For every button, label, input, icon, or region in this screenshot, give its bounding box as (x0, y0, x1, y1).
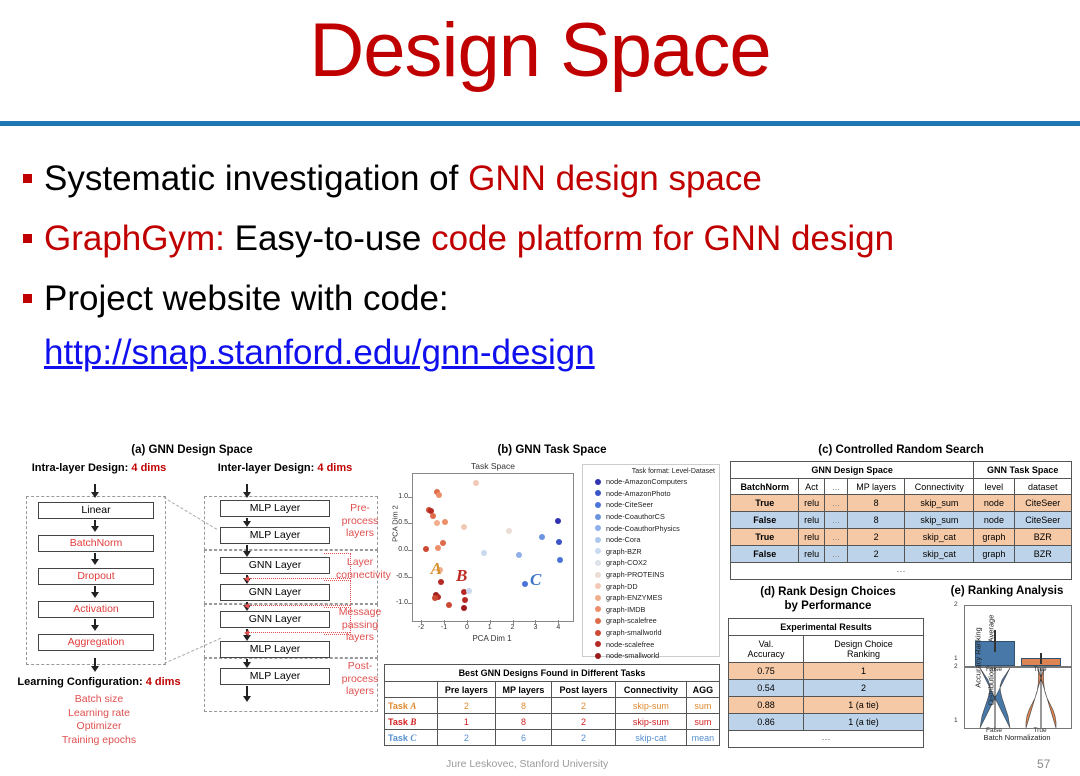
cell-0-0: 2 (438, 698, 496, 714)
panel-e-y-label-main: Accuracy Ranking (974, 598, 983, 718)
legend-item-12: graph-scalefree (585, 615, 717, 627)
bullet-marker-icon (10, 152, 44, 206)
scatter-point-10 (440, 540, 446, 546)
cell-0-1: relu (799, 495, 825, 512)
panel-d-rank-design-choices: (d) Rank Design Choices by Performance E… (722, 585, 934, 760)
bullet-1-highlight: GNN design space (468, 159, 762, 198)
column-header-val-accuracy: Val.Accuracy (729, 636, 804, 663)
cell-1-2: 2 (552, 714, 616, 730)
tick-mark (467, 620, 468, 624)
experimental-results-table: Experimental ResultsVal.AccuracyDesign C… (728, 618, 924, 748)
panel-d-title-line1: (d) Rank Design Choices (722, 585, 934, 599)
accuracy-cell-1: 0.54 (729, 680, 804, 697)
legend-color-swatch (595, 514, 601, 520)
scatter-x-tick: 0 (460, 624, 474, 631)
scatter-title: Task Space (406, 461, 580, 471)
group-header-row: GNN Design SpaceGNN Task Space (731, 462, 1072, 479)
arrow-icon (91, 625, 99, 631)
column-header-4: Connectivity (905, 479, 974, 495)
scatter-point-5 (430, 513, 436, 519)
cell-2-1: relu (799, 529, 825, 546)
panel-e-ranking-analysis: (e) Ranking Analysis Accuracy Ranking Di… (934, 585, 1080, 760)
cell-0-5: node (974, 495, 1014, 512)
intra-block-linear: Linear (38, 502, 154, 519)
skip-arrow-icon (244, 603, 249, 609)
legend-label: node-Cora (606, 535, 640, 544)
cell-3-3: 2 (847, 546, 904, 563)
legend-color-swatch (595, 502, 601, 508)
column-header-row: Val.AccuracyDesign ChoiceRanking (729, 636, 924, 663)
cell-0-4: sum (686, 698, 719, 714)
bullet-item-2: GraphGym: Easy-to-use code platform for … (10, 212, 1080, 266)
scatter-point-2 (436, 492, 442, 498)
cell-3-1: relu (799, 546, 825, 563)
cell-0-3: 8 (847, 495, 904, 512)
bullet-list: Systematic investigation of GNN design s… (10, 152, 1080, 386)
cell-1-0: 1 (438, 714, 496, 730)
y-label-average: Average (987, 600, 996, 658)
legend-color-swatch (595, 572, 601, 578)
tick-mark (408, 603, 412, 604)
legend-color-swatch (595, 653, 601, 659)
learning-item-3: Training epochs (6, 734, 192, 748)
legend-item-8: graph-PROTEINS (585, 569, 717, 581)
column-header-6: dataset (1014, 479, 1071, 495)
experimental-results-table-element: Experimental ResultsVal.AccuracyDesign C… (728, 618, 924, 748)
legend-item-6: graph-BZR (585, 546, 717, 558)
legend-item-3: node-CoauthorCS (585, 511, 717, 523)
cell-2-3: 2 (847, 529, 904, 546)
scatter-point-27 (462, 597, 468, 603)
inter-block-3-gnn-layer: GNN Layer (220, 584, 330, 601)
task-label-cell: Task B (385, 714, 438, 730)
random-search-table-element: GNN Design SpaceGNN Task SpaceBatchNormA… (730, 461, 1072, 580)
legend-color-swatch (595, 560, 601, 566)
legend-label: node-smallworld (606, 651, 659, 660)
panel-e-x-label: Batch Normalization (964, 733, 1070, 742)
page-title: Design Space (0, 4, 1080, 98)
legend-color-swatch (595, 479, 601, 485)
cell-2-4: mean (686, 730, 719, 746)
scatter-point-9 (506, 528, 512, 534)
violin-x-tick-False: False (974, 727, 1014, 734)
scatter-point-11 (435, 545, 441, 551)
column-header-2: MP layers (495, 682, 551, 698)
table-row: 0.861 (a tie) (729, 714, 924, 731)
inter-block-4-gnn-layer: GNN Layer (220, 611, 330, 628)
inter-heading-text: Inter-layer Design: (218, 462, 315, 474)
cell-1-4: sum (686, 714, 719, 730)
intra-layer-heading: Intra-layer Design: 4 dims (14, 462, 184, 474)
legend-label: graph-COX2 (606, 558, 647, 567)
arrow-icon (91, 666, 99, 672)
legend-label: graph-smallworld (606, 628, 662, 637)
table-row: Falserelu...8skip_sumnodeCiteSeer (731, 512, 1072, 529)
inter-block-6-mlp-layer: MLP Layer (220, 668, 330, 685)
inter-heading-dims: 4 dims (317, 462, 352, 474)
tick-mark (558, 620, 559, 624)
column-header-row: BatchNormAct...MP layersConnectivityleve… (731, 479, 1072, 495)
cell-0-3: skip-sum (615, 698, 686, 714)
ellipsis-row: ··· (729, 731, 924, 748)
accuracy-cell-2: 0.88 (729, 697, 804, 714)
legend-color-swatch (595, 583, 601, 589)
intra-heading-text: Intra-layer Design: (32, 462, 129, 474)
intra-block-aggregation: Aggregation (38, 634, 154, 651)
task-label-cell: Task A (385, 698, 438, 714)
task-label-cell: Task C (385, 730, 438, 746)
ellipsis-cell: ··· (731, 563, 1072, 580)
best-designs-table-element: Best GNN Designs Found in Different Task… (384, 664, 720, 746)
bullet-text-1: Systematic investigation of GNN design s… (44, 152, 762, 206)
cell-0-0: True (731, 495, 799, 512)
learning-item-2: Optimizer (6, 720, 192, 734)
scatter-y-tick: 0.0 (386, 546, 408, 553)
ranking-analysis-charts: Accuracy Ranking DistributionAverage Bat… (964, 605, 1070, 735)
inter-block-5-mlp-layer: MLP Layer (220, 641, 330, 658)
panel-a-gnn-design-space: (a) GNN Design Space Intra-layer Design:… (6, 444, 378, 760)
table-row: 0.751 (729, 663, 924, 680)
learning-heading-text: Learning Configuration: (17, 676, 142, 688)
table-row: Task B182skip-sumsum (385, 714, 720, 730)
task-space-scatter: Task Space ABC PCA Dim 2 PCA Dim 1 -1.0-… (384, 461, 580, 661)
skip-connection-line-2 (246, 632, 350, 633)
column-header-0: BatchNorm (731, 479, 799, 495)
message-passing-label: Messagepassinglayers (336, 606, 384, 644)
cell-1-1: relu (799, 512, 825, 529)
tick-mark (535, 620, 536, 624)
scatter-point-26 (466, 588, 472, 594)
legend-item-4: node-CoauthorPhysics (585, 522, 717, 534)
legend-label: node-scalefree (606, 640, 654, 649)
legend-item-7: graph-COX2 (585, 557, 717, 569)
skip-connection-line-0 (246, 578, 350, 579)
cell-1-3: 8 (847, 512, 904, 529)
table-header-row: Pre layersMP layersPost layersConnectivi… (385, 682, 720, 698)
panel-c-controlled-random-search: (c) Controlled Random Search GNN Design … (726, 444, 1076, 596)
inter-layer-heading: Inter-layer Design: 4 dims (192, 462, 378, 474)
panel-b-gnn-task-space: (b) GNN Task Space Task Space ABC PCA Di… (382, 444, 722, 760)
column-header-1: Act (799, 479, 825, 495)
cell-1-6: CiteSeer (1014, 512, 1071, 529)
arrow-icon (91, 526, 99, 532)
footer-page-number: 57 (1037, 757, 1050, 771)
table-row: Truerelu...2skip_catgraphBZR (731, 529, 1072, 546)
bar-y-tick-1: 1 (954, 655, 958, 662)
legend-color-swatch (595, 630, 601, 636)
cell-0-4: skip_sum (905, 495, 974, 512)
legend-label: node-CoauthorCS (606, 512, 665, 521)
cell-1-5: node (974, 512, 1014, 529)
table-row: Truerelu...8skip_sumnodeCiteSeer (731, 495, 1072, 512)
scatter-point-16 (555, 518, 561, 524)
cell-0-2: ... (824, 495, 847, 512)
tick-mark (421, 620, 422, 624)
panel-e-title: (e) Ranking Analysis (934, 585, 1080, 597)
arrow-icon (91, 559, 99, 565)
learning-item-0: Batch size (6, 693, 192, 707)
cell-3-6: BZR (1014, 546, 1071, 563)
legend-item-10: graph-ENZYMES (585, 592, 717, 604)
learning-config-items: Batch sizeLearning rateOptimizerTraining… (6, 693, 192, 747)
cell-0-1: 8 (495, 698, 551, 714)
scatter-x-axis-label: PCA Dim 1 (412, 634, 572, 643)
tick-mark (490, 620, 491, 624)
legend-item-15: node-smallworld (585, 650, 717, 662)
legend-label: node-CoauthorPhysics (606, 524, 680, 533)
scatter-y-tick: 0.5 (386, 519, 408, 526)
intra-block-batchnorm: BatchNorm (38, 535, 154, 552)
scatter-point-20 (438, 579, 444, 585)
bullet-marker-icon (10, 212, 44, 266)
cell-2-2: ... (824, 529, 847, 546)
title-divider (0, 121, 1080, 126)
cell-2-5: graph (974, 529, 1014, 546)
bullet-2-graphgym: GraphGym: (44, 219, 225, 258)
bullet-2-highlight: code platform for GNN design (431, 219, 894, 258)
table-caption-row: Experimental Results (729, 619, 924, 636)
legend-item-9: graph-DD (585, 580, 717, 592)
legend-label: graph-ENZYMES (606, 593, 662, 602)
scatter-x-tick: -1 (437, 624, 451, 631)
scatter-point-8 (461, 524, 467, 530)
accuracy-cell-0: 0.75 (729, 663, 804, 680)
cell-1-0: False (731, 512, 799, 529)
scatter-point-28 (461, 605, 467, 611)
post-process-label: Post-processlayers (336, 660, 384, 698)
table-caption-cell: Best GNN Designs Found in Different Task… (385, 665, 720, 682)
scatter-point-14 (516, 552, 522, 558)
legend-label: graph-scalefree (606, 616, 657, 625)
legend-label: node-AmazonComputers (606, 477, 687, 486)
task-marker-A: A (431, 559, 442, 579)
cell-3-4: skip_cat (905, 546, 974, 563)
scatter-point-7 (442, 519, 448, 525)
cell-2-0: True (731, 529, 799, 546)
panel-d-title-line2: by Performance (722, 599, 934, 613)
tick-mark (408, 523, 412, 524)
learning-heading-dims: 4 dims (146, 676, 181, 688)
column-header-1: Pre layers (438, 682, 496, 698)
scatter-legend: Task format: Level-Dataset node-AmazonCo… (582, 464, 720, 657)
legend-item-2: node-CiteSeer (585, 499, 717, 511)
legend-header: Task format: Level-Dataset (585, 468, 717, 475)
scatter-point-0 (473, 480, 479, 486)
legend-item-11: graph-IMDB (585, 604, 717, 616)
legend-item-13: graph-smallworld (585, 627, 717, 639)
bullet-marker-icon (10, 272, 44, 326)
column-header-3: Post layers (552, 682, 616, 698)
legend-color-swatch (595, 525, 601, 531)
project-website-link[interactable]: http://snap.stanford.edu/gnn-design (44, 326, 595, 380)
scatter-point-12 (423, 546, 429, 552)
scatter-point-13 (481, 550, 487, 556)
skip-arrow-icon (244, 630, 249, 636)
figure-composite: (a) GNN Design Space Intra-layer Design:… (0, 440, 1080, 760)
scatter-x-tick: -2 (414, 624, 428, 631)
cell-3-0: False (731, 546, 799, 563)
scatter-x-tick: 2 (506, 624, 520, 631)
intra-block-activation: Activation (38, 601, 154, 618)
legend-color-swatch (595, 490, 601, 496)
inter-block-1-mlp-layer: MLP Layer (220, 527, 330, 544)
column-header-2: ... (824, 479, 847, 495)
legend-color-swatch (595, 537, 601, 543)
ranking-cell-3: 1 (a tie) (804, 714, 924, 731)
bar-x-tick-True: True (1020, 666, 1060, 673)
scatter-plot-area: ABC (412, 473, 574, 622)
ranking-cell-0: 1 (804, 663, 924, 680)
pre-process-label: Pre-processlayers (336, 502, 384, 540)
legend-color-swatch (595, 618, 601, 624)
scatter-y-tick: 1.0 (386, 493, 408, 500)
bullet-text-2: GraphGym: Easy-to-use code platform for … (44, 212, 894, 266)
column-header-5: AGG (686, 682, 719, 698)
group-header-design-space: GNN Design Space (731, 462, 974, 479)
panel-c-title: (c) Controlled Random Search (726, 444, 1076, 456)
scatter-point-6 (434, 520, 440, 526)
ellipsis-cell: ··· (729, 731, 924, 748)
bullet-text-3: Project website with code: http://snap.s… (44, 272, 595, 380)
cell-1-3: skip-sum (615, 714, 686, 730)
legend-color-swatch (595, 548, 601, 554)
best-designs-table: Best GNN Designs Found in Different Task… (384, 664, 720, 746)
cell-2-4: skip_cat (905, 529, 974, 546)
table-row: Task A282skip-sumsum (385, 698, 720, 714)
cell-2-2: 2 (552, 730, 616, 746)
intra-block-dropout: Dropout (38, 568, 154, 585)
tick-mark (408, 550, 412, 551)
bullet-1-plain: Systematic investigation of (44, 159, 468, 198)
inter-block-0-mlp-layer: MLP Layer (220, 500, 330, 517)
column-header-5: level (974, 479, 1014, 495)
scatter-point-18 (557, 557, 563, 563)
panel-d-title: (d) Rank Design Choices by Performance (722, 585, 934, 613)
bar-x-tick-False: False (974, 666, 1014, 673)
column-header-3: MP layers (847, 479, 904, 495)
ellipsis-row: ··· (731, 563, 1072, 580)
legend-entries: node-AmazonComputersnode-AmazonPhotonode… (585, 476, 717, 662)
scatter-point-23 (432, 595, 438, 601)
skip-connection-line-1 (246, 605, 350, 606)
inter-block-2-gnn-layer: GNN Layer (220, 557, 330, 574)
legend-item-0: node-AmazonComputers (585, 476, 717, 488)
legend-item-5: node-Cora (585, 534, 717, 546)
ranking-cell-2: 1 (a tie) (804, 697, 924, 714)
legend-label: graph-PROTEINS (606, 570, 664, 579)
bullet-3-plain: Project website with code: (44, 272, 595, 326)
arrow-icon (91, 592, 99, 598)
legend-label: node-AmazonPhoto (606, 489, 671, 498)
cell-1-4: skip_sum (905, 512, 974, 529)
legend-item-14: node-scalefree (585, 638, 717, 650)
table-row: Falserelu...2skip_catgraphBZR (731, 546, 1072, 563)
scatter-x-tick: 1 (483, 624, 497, 631)
ranking-cell-1: 2 (804, 680, 924, 697)
scatter-y-tick: -1.0 (386, 599, 408, 606)
accuracy-cell-3: 0.86 (729, 714, 804, 731)
skip-connection-1 (324, 580, 351, 608)
error-bar-True (1040, 653, 1042, 664)
group-header-task-space: GNN Task Space (974, 462, 1072, 479)
scatter-x-tick: 4 (551, 624, 565, 631)
bullet-item-3: Project website with code: http://snap.s… (10, 272, 1080, 380)
legend-label: graph-BZR (606, 547, 642, 556)
footer-attribution: Jure Leskovec, Stanford University (446, 758, 608, 770)
table-row: 0.542 (729, 680, 924, 697)
layer-connectivity-label: Layerconnectivity (336, 556, 384, 581)
legend-label: graph-DD (606, 582, 638, 591)
cell-2-3: skip-cat (615, 730, 686, 746)
cell-3-2: ... (824, 546, 847, 563)
skip-arrow-icon (244, 576, 249, 582)
tick-mark (408, 577, 412, 578)
scatter-point-15 (556, 539, 562, 545)
scatter-x-tick: 3 (528, 624, 542, 631)
legend-label: node-CiteSeer (606, 500, 653, 509)
violin-y-tick-1: 1 (954, 717, 958, 724)
legend-color-swatch (595, 641, 601, 647)
column-header-0 (385, 682, 438, 698)
panel-b-title: (b) GNN Task Space (382, 444, 722, 456)
table-row: Task C262skip-catmean (385, 730, 720, 746)
random-search-table: GNN Design SpaceGNN Task SpaceBatchNormA… (730, 461, 1072, 580)
scatter-point-24 (446, 602, 452, 608)
arrow-icon (91, 492, 99, 498)
scatter-point-17 (539, 534, 545, 540)
task-marker-B: B (456, 566, 467, 586)
cell-2-6: BZR (1014, 529, 1071, 546)
bullet-item-1: Systematic investigation of GNN design s… (10, 152, 1080, 206)
tick-mark (408, 497, 412, 498)
violin-x-tick-True: True (1020, 727, 1060, 734)
column-header-4: Connectivity (615, 682, 686, 698)
legend-color-swatch (595, 606, 601, 612)
bullet-2-plain: Easy-to-use (225, 219, 431, 258)
panel-e-y-label-sub: DistributionAverage (987, 598, 996, 718)
tick-mark (444, 620, 445, 624)
cell-0-6: CiteSeer (1014, 495, 1071, 512)
legend-color-swatch (595, 595, 601, 601)
scatter-point-29 (522, 581, 528, 587)
scatter-y-tick: -0.5 (386, 573, 408, 580)
panel-a-title: (a) GNN Design Space (6, 444, 378, 456)
tick-mark (513, 620, 514, 624)
column-header-design-choice-ranking: Design ChoiceRanking (804, 636, 924, 663)
task-marker-C: C (530, 570, 541, 590)
table-row: 0.881 (a tie) (729, 697, 924, 714)
legend-item-1: node-AmazonPhoto (585, 488, 717, 500)
cell-3-5: graph (974, 546, 1014, 563)
intra-heading-dims: 4 dims (131, 462, 166, 474)
arrow-icon (243, 696, 251, 702)
violin-y-tick-0: 2 (954, 663, 958, 670)
learning-config-heading: Learning Configuration: 4 dims (6, 676, 192, 688)
learning-item-1: Learning rate (6, 707, 192, 721)
table-caption-cell: Experimental Results (729, 619, 924, 636)
legend-label: graph-IMDB (606, 605, 645, 614)
bar-y-tick-0: 2 (954, 601, 958, 608)
cell-1-2: ... (824, 512, 847, 529)
cell-0-2: 2 (552, 698, 616, 714)
cell-1-1: 8 (495, 714, 551, 730)
cell-2-1: 6 (495, 730, 551, 746)
arrow-icon (243, 492, 251, 498)
cell-2-0: 2 (438, 730, 496, 746)
